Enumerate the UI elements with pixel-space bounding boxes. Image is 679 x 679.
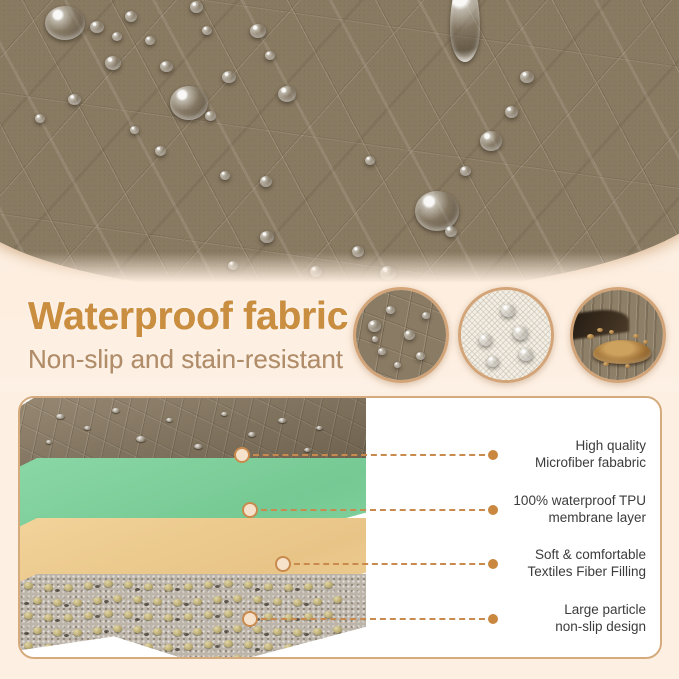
nonslip-particle [213, 626, 222, 633]
label-layer-4: Large particle non-slip design [555, 601, 646, 635]
inset1-texture [353, 287, 449, 383]
label-layer-2-line2: membrane layer [513, 509, 646, 526]
nonslip-particle [204, 581, 213, 588]
nonslip-particle [304, 583, 313, 590]
nonslip-particle [153, 628, 162, 635]
nonslip-particle [144, 583, 153, 590]
nonslip-particle [53, 599, 62, 606]
nonslip-particle [124, 581, 133, 588]
nonslip-particle [264, 643, 273, 650]
nonslip-particle [193, 598, 202, 605]
infographic-canvas: Waterproof fabric Waterproof fabric Non-… [0, 0, 679, 679]
water-droplet [394, 362, 401, 368]
connector-ring-4 [242, 611, 258, 627]
nonslip-particle [164, 584, 173, 591]
water-droplet [145, 36, 155, 45]
inset2-weave-texture [458, 287, 554, 383]
inset-water-beading [353, 287, 449, 383]
layer1-droplet [46, 440, 52, 444]
water-droplet [112, 32, 122, 41]
nonslip-perforation [255, 648, 260, 651]
nonslip-perforation [64, 604, 69, 607]
connector-line-1 [253, 454, 485, 456]
nonslip-perforation [95, 645, 100, 648]
nonslip-particle [233, 625, 242, 632]
nonslip-particle [44, 614, 53, 621]
waterproof-quilted-fabric-photo [0, 0, 679, 286]
water-droplet [422, 312, 430, 319]
nonslip-perforation [255, 588, 260, 591]
nonslip-particle [164, 614, 173, 621]
nonslip-particle [113, 625, 122, 632]
layer-construction-diagram: High quality Microfiber fababric 100% wa… [18, 396, 662, 659]
water-droplet [368, 320, 381, 332]
nonslip-particle [173, 629, 182, 636]
nonslip-particle [333, 596, 342, 603]
nonslip-perforation [184, 603, 189, 606]
nonslip-particle [273, 598, 282, 605]
water-droplet [160, 61, 173, 72]
nonslip-particle [204, 611, 213, 618]
nonslip-particle [64, 614, 73, 621]
nonslip-particle [104, 610, 113, 617]
water-droplet [265, 51, 275, 60]
water-droplet [479, 334, 492, 346]
label-layer-1-line2: Microfiber fababric [535, 454, 646, 471]
nonslip-perforation [175, 588, 180, 591]
water-droplet [202, 26, 212, 35]
layer1-droplet [56, 414, 65, 419]
nonslip-particle [33, 657, 42, 659]
nonslip-perforation [95, 615, 100, 618]
hero-photo-wrap [0, 0, 679, 286]
layer1-droplet [316, 426, 323, 430]
nonslip-particle [313, 658, 322, 659]
nonslip-perforation [135, 588, 140, 591]
nonslip-particle [93, 627, 102, 634]
nonslip-perforation [135, 618, 140, 621]
nonslip-particle [124, 641, 133, 648]
water-droplet [260, 231, 274, 243]
nonslip-particle [244, 641, 253, 648]
nonslip-particle [73, 599, 82, 606]
nonslip-particle [133, 596, 142, 603]
nonslip-particle [73, 629, 82, 636]
connector-ring-3 [275, 556, 291, 572]
nonslip-particle [224, 610, 233, 617]
layer1-droplet [194, 444, 203, 449]
nonslip-perforation [215, 615, 220, 618]
nonslip-particle [213, 656, 222, 659]
water-droplet [170, 86, 208, 120]
connector-dot-1 [488, 450, 498, 460]
water-droplet [190, 1, 203, 13]
nonslip-particle [193, 628, 202, 635]
nonslip-particle [324, 641, 333, 648]
nonslip-particle [333, 626, 342, 633]
nonslip-perforation [24, 632, 29, 635]
nonslip-perforation [104, 630, 109, 633]
water-droplet [130, 126, 139, 134]
water-droplet [125, 11, 137, 22]
coffee-spill [593, 340, 651, 364]
water-droplet [260, 176, 272, 187]
layer1-droplet [112, 408, 120, 413]
nonslip-particle [24, 612, 33, 619]
nonslip-particle [64, 644, 73, 651]
layer1-droplet [221, 412, 228, 416]
nonslip-perforation [144, 603, 149, 606]
nonslip-particle [293, 629, 302, 636]
nonslip-perforation [304, 603, 309, 606]
nonslip-particle [184, 643, 193, 650]
nonslip-particle [84, 642, 93, 649]
label-layer-2: 100% waterproof TPU membrane layer [513, 492, 646, 526]
connector-ring-1 [234, 447, 250, 463]
nonslip-particle [104, 640, 113, 647]
water-droplet [480, 131, 502, 151]
nonslip-particle [173, 599, 182, 606]
nonslip-particle [253, 596, 262, 603]
connector-layer-1 [234, 449, 498, 461]
nonslip-particle [93, 657, 102, 659]
nonslip-particle [113, 655, 122, 659]
water-droplet [105, 56, 121, 70]
layer1-droplet [84, 426, 91, 430]
water-droplet [520, 71, 534, 83]
nonslip-perforation [224, 630, 229, 633]
label-layer-3-line1: Soft & comfortable [527, 546, 646, 563]
water-droplet [404, 330, 415, 340]
nonslip-particle [324, 581, 333, 588]
nonslip-perforation [264, 633, 269, 636]
label-layer-4-line2: non-slip design [555, 618, 646, 635]
inset-white-fabric-droplets [458, 287, 554, 383]
nonslip-particle [273, 658, 282, 659]
nonslip-particle [44, 644, 53, 651]
nonslip-perforation [184, 633, 189, 636]
water-droplet [519, 348, 533, 361]
water-droplet [513, 326, 528, 340]
nonslip-particle [124, 611, 133, 618]
layer1-droplet [278, 418, 287, 423]
coffee-splash-droplet [625, 364, 630, 368]
nonslip-particle [204, 641, 213, 648]
nonslip-particle [33, 597, 42, 604]
nonslip-particle [184, 583, 193, 590]
connector-line-3 [294, 563, 485, 565]
coffee-splash-droplet [587, 334, 594, 339]
connector-line-2 [261, 509, 485, 511]
nonslip-perforation [135, 648, 140, 651]
nonslip-perforation [95, 585, 100, 588]
nonslip-particle [233, 595, 242, 602]
nonslip-particle [133, 626, 142, 633]
nonslip-perforation [215, 645, 220, 648]
water-droplet [487, 356, 499, 367]
nonslip-particle [164, 644, 173, 651]
connector-layer-2 [242, 504, 498, 516]
label-layer-2-line1: 100% waterproof TPU [513, 492, 646, 509]
water-droplet [372, 336, 378, 342]
nonslip-particle [264, 583, 273, 590]
nonslip-perforation [55, 619, 60, 622]
nonslip-particle [253, 656, 262, 659]
nonslip-particle [153, 658, 162, 659]
connector-dot-4 [488, 614, 498, 624]
nonslip-perforation [215, 585, 220, 588]
nonslip-particle [293, 599, 302, 606]
layer1-droplet [166, 418, 173, 422]
nonslip-particle [153, 598, 162, 605]
nonslip-particle [213, 596, 222, 603]
label-layer-3: Soft & comfortable Textiles Fiber Fillin… [527, 546, 646, 580]
nonslip-particle [273, 628, 282, 635]
nonslip-particle [184, 613, 193, 620]
water-droplet [205, 111, 216, 121]
water-droplet [155, 146, 166, 156]
nonslip-particle [93, 597, 102, 604]
nonslip-particle [24, 642, 33, 649]
nonslip-particle [253, 626, 262, 633]
water-droplet [220, 171, 230, 180]
label-layer-4-line1: Large particle [555, 601, 646, 618]
water-droplet [35, 114, 45, 123]
page-subtitle: Non-slip and stain-resistant [28, 344, 343, 375]
water-droplet [505, 106, 518, 118]
nonslip-perforation [55, 649, 60, 652]
coffee-splash-droplet [603, 362, 609, 366]
water-droplet [416, 352, 425, 360]
page-title: Waterproof fabric [28, 295, 348, 339]
layer1-droplet [136, 436, 146, 442]
nonslip-perforation [55, 589, 60, 592]
nonslip-perforation [295, 648, 300, 651]
water-droplet [386, 306, 395, 314]
water-droplet [501, 304, 515, 317]
nonslip-particle [44, 584, 53, 591]
water-droplet [45, 6, 85, 40]
nonslip-perforation [264, 603, 269, 606]
nonslip-perforation [64, 634, 69, 637]
water-droplet [378, 348, 386, 355]
nonslip-particle [33, 627, 42, 634]
coffee-splash-droplet [643, 340, 648, 344]
nonslip-perforation [224, 600, 229, 603]
nonslip-particle [84, 612, 93, 619]
label-layer-3-line2: Textiles Fiber Filling [527, 563, 646, 580]
connector-dot-3 [488, 559, 498, 569]
connector-layer-3 [275, 558, 498, 570]
water-droplet [445, 226, 457, 237]
connector-ring-2 [242, 502, 258, 518]
connector-line-4 [261, 618, 485, 620]
water-droplet [222, 71, 236, 83]
nonslip-perforation [175, 648, 180, 651]
coffee-splash-droplet [609, 330, 614, 334]
nonslip-particle [64, 584, 73, 591]
water-droplet [460, 166, 471, 176]
connector-layer-4 [242, 613, 498, 625]
nonslip-perforation [144, 633, 149, 636]
coffee-splash-droplet [597, 328, 603, 332]
water-droplet [365, 156, 375, 165]
label-layer-1: High quality Microfiber fababric [535, 437, 646, 471]
nonslip-particle [313, 598, 322, 605]
water-droplet [68, 94, 81, 105]
nonslip-particle [24, 582, 33, 589]
nonslip-particle [224, 640, 233, 647]
nonslip-particle [224, 580, 233, 587]
nonslip-particle [113, 595, 122, 602]
inset-coffee-stain-resistant [570, 287, 666, 383]
coffee-splash-droplet [633, 334, 639, 338]
nonslip-perforation [304, 633, 309, 636]
nonslip-particle [304, 643, 313, 650]
nonslip-perforation [175, 618, 180, 621]
nonslip-particle [193, 658, 202, 659]
nonslip-perforation [295, 588, 300, 591]
label-layer-1-line1: High quality [535, 437, 646, 454]
nonslip-perforation [24, 602, 29, 605]
nonslip-particle [333, 656, 342, 659]
nonslip-particle [244, 581, 253, 588]
nonslip-particle [284, 644, 293, 651]
nonslip-particle [144, 613, 153, 620]
connector-dot-2 [488, 505, 498, 515]
nonslip-perforation [104, 600, 109, 603]
nonslip-particle [53, 629, 62, 636]
nonslip-particle [84, 582, 93, 589]
water-droplet [415, 191, 459, 231]
water-droplet [250, 24, 266, 38]
nonslip-particle [284, 584, 293, 591]
water-droplet [90, 21, 104, 33]
nonslip-particle [313, 628, 322, 635]
nonslip-particle [133, 656, 142, 659]
nonslip-particle [104, 580, 113, 587]
nonslip-particle [144, 643, 153, 650]
layer1-droplet [248, 432, 256, 437]
fabric-grain-texture [0, 0, 679, 286]
water-droplet [278, 86, 296, 102]
nonslip-particle [233, 655, 242, 659]
